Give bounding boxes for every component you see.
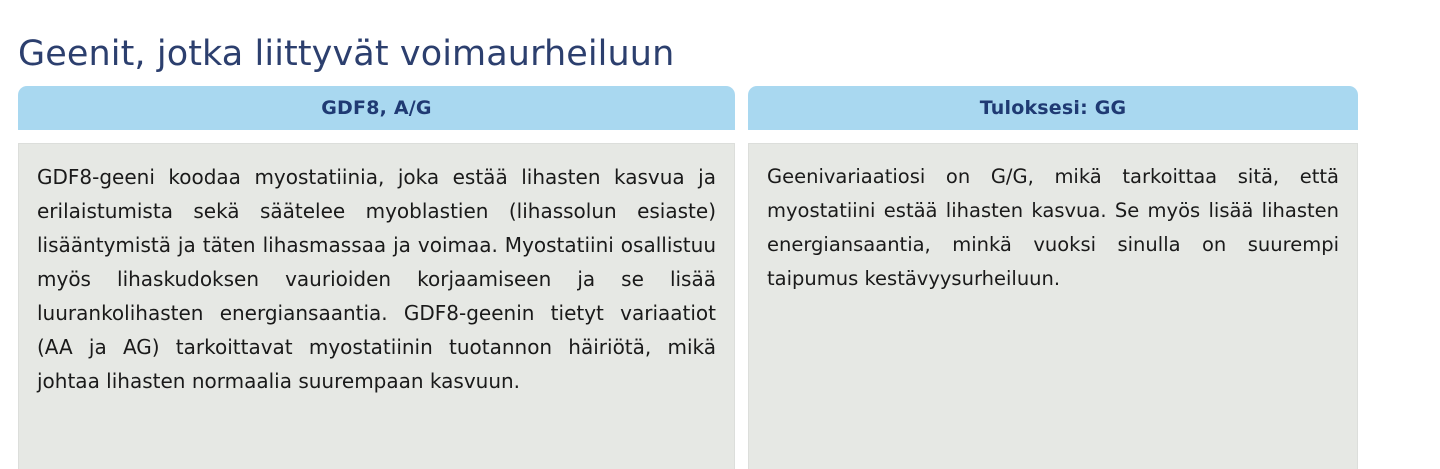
result-card-header-label: Tuloksesi: GG — [980, 97, 1127, 119]
report-page: Geenit, jotka liittyvät voimaurheiluun G… — [0, 0, 1440, 469]
result-card-header: Tuloksesi: GG — [748, 86, 1358, 130]
gene-card-body: GDF8-geeni koodaa myostatiinia, joka est… — [18, 143, 735, 469]
gene-card-header-label: GDF8, A/G — [321, 97, 431, 119]
card-columns: GDF8, A/G GDF8-geeni koodaa myostatiinia… — [18, 86, 1358, 469]
page-title: Geenit, jotka liittyvät voimaurheiluun — [18, 31, 674, 77]
result-card-body: Geenivariaatiosi on G/G, mikä tarkoittaa… — [748, 143, 1358, 469]
gene-card-header-gap — [18, 130, 735, 143]
gene-card: GDF8, A/G GDF8-geeni koodaa myostatiinia… — [18, 86, 735, 469]
gene-card-body-text: GDF8-geeni koodaa myostatiinia, joka est… — [37, 160, 716, 398]
gene-card-header: GDF8, A/G — [18, 86, 735, 130]
result-card-header-gap — [748, 130, 1358, 143]
result-card: Tuloksesi: GG Geenivariaatiosi on G/G, m… — [748, 86, 1358, 469]
result-card-body-text: Geenivariaatiosi on G/G, mikä tarkoittaa… — [767, 160, 1339, 296]
